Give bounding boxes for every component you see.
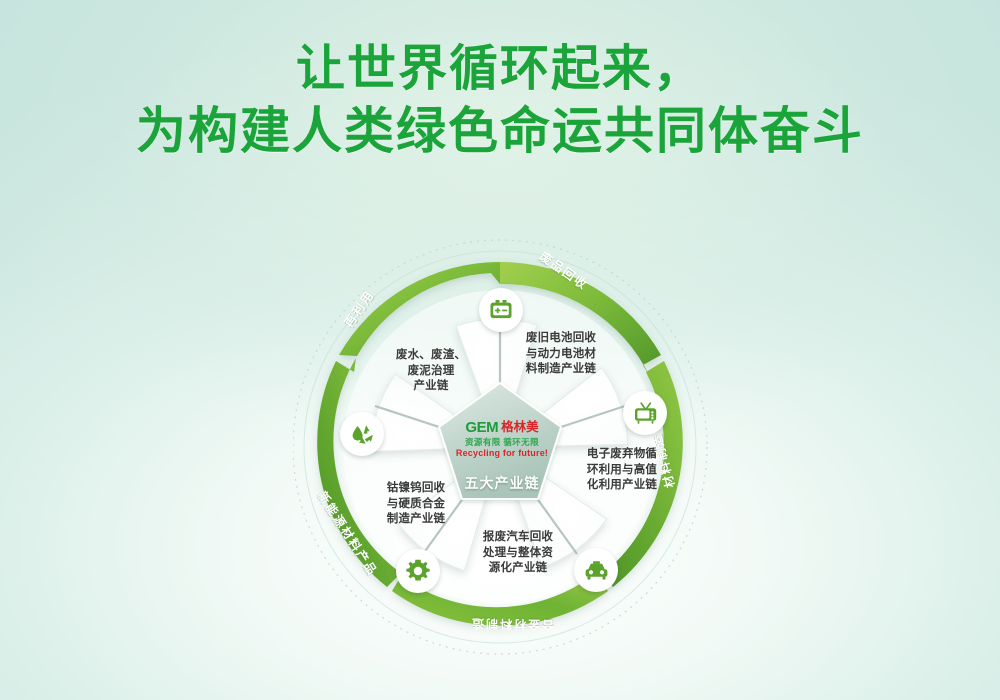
- chain-label-water-waste: 废水、废渣、 废泥治理 产业链: [388, 348, 474, 395]
- badge-car: [574, 548, 618, 592]
- logo-brand-row: GEM 格林美: [443, 420, 561, 435]
- chain-label-battery: 废旧电池回收 与动力电池材 料制造产业链: [517, 331, 605, 378]
- ring-label-alloy-material: 合金材料制造: [470, 615, 554, 633]
- badge-gear: [396, 549, 440, 593]
- gear-icon: [405, 558, 431, 584]
- center-caption: 五大产业链: [443, 473, 561, 493]
- water-recycle-icon: [349, 421, 376, 448]
- page-title: 让世界循环起来， 为构建人类绿色命运共同体奋斗: [0, 38, 1000, 162]
- center-logo-block: GEM 格林美 资源有限 循环无限 Recycling for future! …: [443, 420, 561, 493]
- title-line-1: 让世界循环起来，: [0, 38, 1000, 100]
- chain-label-e-waste: 电子废弃物循 环利用与高值 化利用产业链: [582, 447, 662, 494]
- tv-icon: [632, 400, 659, 427]
- title-line-2: 为构建人类绿色命运共同体奋斗: [0, 100, 1000, 162]
- badge-tv: [623, 391, 667, 435]
- logo-slogan-cn: 资源有限 循环无限: [443, 437, 561, 447]
- circular-industry-diagram: 废旧电池回收 与动力电池材 料制造产业链 废水、废渣、 废泥治理 产业链 电子废…: [293, 215, 708, 675]
- logo-slogan-en: Recycling for future!: [443, 448, 561, 459]
- chain-label-scrap-car: 报废汽车回收 处理与整体资 源化产业链: [477, 530, 559, 577]
- logo-brand-en: GEM: [465, 420, 498, 435]
- logo-brand-cn: 格林美: [501, 421, 539, 434]
- badge-battery: [479, 288, 523, 332]
- battery-icon: [488, 297, 514, 323]
- badge-water-recycle: [340, 412, 384, 456]
- car-icon: [583, 557, 610, 584]
